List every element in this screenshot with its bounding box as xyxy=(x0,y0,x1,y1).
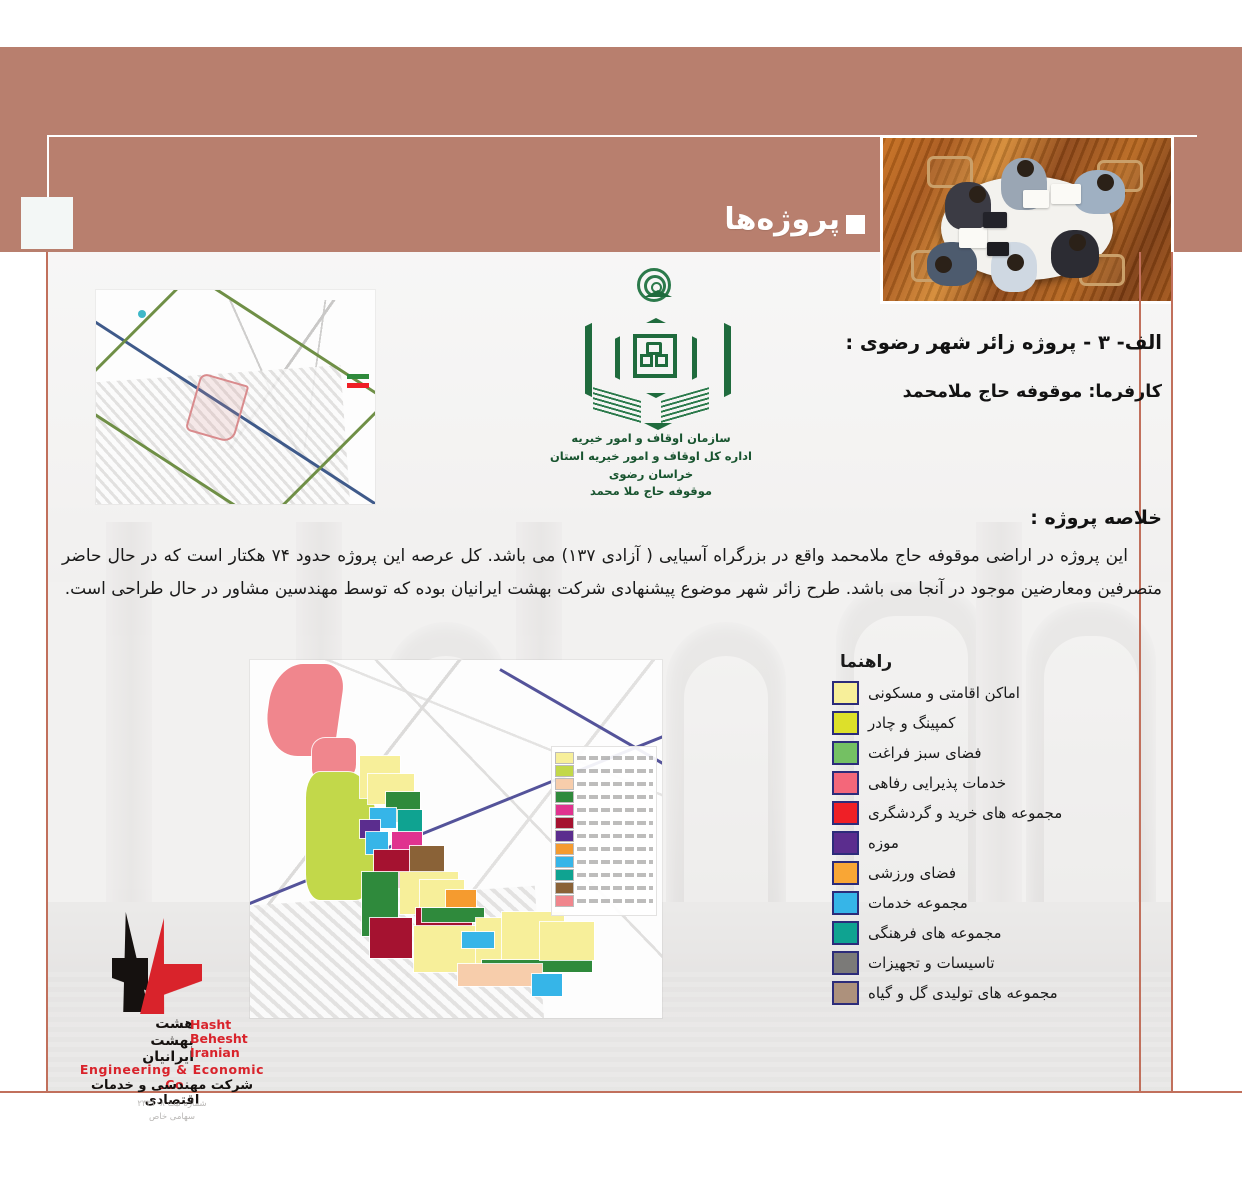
photo-document xyxy=(1051,184,1081,204)
legend-label: خدمات پذیرایی رفاهی xyxy=(868,774,1006,792)
masterplan-legend-label xyxy=(577,873,653,877)
legend-label: مجموعه خدمات xyxy=(868,894,968,912)
legend-swatch xyxy=(832,741,859,765)
photo-person-head xyxy=(1097,174,1114,191)
project-title: الف- ۳ - پروژه زائر شهر رضوی : xyxy=(802,332,1162,353)
masterplan-legend-label xyxy=(577,886,653,890)
legend-row: کمپینگ و چادر xyxy=(832,708,1162,738)
masterplan-legend-label xyxy=(577,860,653,864)
header-white-square xyxy=(21,197,73,249)
legend-row: خدمات پذیرایی رفاهی xyxy=(832,768,1162,798)
legend-label: تاسیسات و تجهیزات xyxy=(868,954,995,972)
legend-row: فضای ورزشی xyxy=(832,858,1162,888)
legend-label: مجموعه های خرید و گردشگری xyxy=(868,804,1062,822)
company-logo-block: هشت بهشت ایرانیان Hasht Behesht Iranian … xyxy=(58,912,278,1082)
legend-row: مجموعه های تولیدی گل و گیاه xyxy=(832,978,1162,1008)
masterplan-legend-row xyxy=(555,868,653,881)
masterplan-legend-row xyxy=(555,790,653,803)
emblem-line-3: موقوفه حاج ملا محمد xyxy=(531,483,771,501)
masterplan-zone xyxy=(398,810,422,834)
masterplan-legend-row xyxy=(555,816,653,829)
masterplan-zone xyxy=(458,964,542,986)
masterplan-zone xyxy=(532,974,562,996)
masterplan-legend-swatch xyxy=(555,752,574,764)
company-registration: شماره ثبت ۲۳۳۱۰۸ سهامی خاص xyxy=(66,1098,278,1124)
legend-swatch xyxy=(832,891,859,915)
legend-swatch xyxy=(832,831,859,855)
legend-label: کمپینگ و چادر xyxy=(868,714,955,732)
legend-swatch xyxy=(832,711,859,735)
masterplan-legend-swatch xyxy=(555,869,574,881)
legend-swatch xyxy=(832,921,859,945)
square-bullet-icon xyxy=(846,215,865,234)
summary-body: این پروژه در اراضی موقوفه حاج ملامحمد وا… xyxy=(62,540,1162,606)
masterplan-legend-row xyxy=(555,855,653,868)
header-band: پروژه‌ها xyxy=(0,47,1242,252)
legend-label: فضای سبز فراغت xyxy=(868,744,982,762)
sitemap-key-swatch xyxy=(347,374,369,379)
legend-label: اماکن اقامتی و مسکونی xyxy=(868,684,1020,702)
masterplan-zone xyxy=(540,922,594,960)
masterplan-legend-swatch xyxy=(555,882,574,894)
legend-swatch xyxy=(832,681,859,705)
masterplan-legend-label xyxy=(577,795,653,799)
awqaf-emblem-icon xyxy=(571,274,731,426)
masterplan-legend-label xyxy=(577,847,653,851)
legend-row: تاسیسات و تجهیزات xyxy=(832,948,1162,978)
legend-swatch xyxy=(832,771,859,795)
photo-person-head xyxy=(969,186,986,203)
masterplan-legend-swatch xyxy=(555,817,574,829)
masterplan-legend-row xyxy=(555,777,653,790)
emblem-caption: سازمان اوقاف و امور خیریه اداره کل اوقاف… xyxy=(531,430,771,501)
master-plan-map xyxy=(250,660,662,1018)
photo-document xyxy=(1023,190,1049,208)
masterplan-zone xyxy=(422,908,484,922)
photo-person-head xyxy=(1069,234,1086,251)
company-registration-line-2: سهامی خاص xyxy=(66,1111,278,1124)
masterplan-legend-swatch xyxy=(555,856,574,868)
masterplan-legend-swatch xyxy=(555,778,574,790)
masterplan-legend-label xyxy=(577,769,653,773)
page-root: پروژه‌ها xyxy=(0,0,1242,1180)
page-title: پروژه‌ها xyxy=(724,202,840,237)
masterplan-legend-swatch xyxy=(555,830,574,842)
summary-heading: خلاصه پروژه : xyxy=(1030,507,1162,529)
legend-title: راهنما xyxy=(832,652,1162,672)
masterplan-legend-label xyxy=(577,821,653,825)
emblem-line-2: اداره کل اوقاف و امور خیریه استان خراسان… xyxy=(531,448,771,484)
masterplan-legend-swatch xyxy=(555,804,574,816)
company-name-en-3: Iranian xyxy=(190,1046,276,1060)
legend-swatch xyxy=(832,981,859,1005)
awqaf-emblem-block: سازمان اوقاف و امور خیریه اداره کل اوقاف… xyxy=(531,274,771,494)
masterplan-legend-label xyxy=(577,808,653,812)
logo-red-tail xyxy=(160,964,202,1018)
legend-label: مجموعه های تولیدی گل و گیاه xyxy=(868,984,1058,1002)
company-name-fa-2: بهشت xyxy=(74,1033,194,1050)
masterplan-legend-label xyxy=(577,899,653,903)
company-registration-line-1: شماره ثبت ۲۳۳۱۰۸ xyxy=(66,1098,278,1111)
masterplan-legend-row xyxy=(555,764,653,777)
legend-label: فضای ورزشی xyxy=(868,864,956,882)
masterplan-inset-legend xyxy=(551,746,657,916)
legend-label: مجموعه های فرهنگی xyxy=(868,924,1002,942)
legend-panel: راهنما اماکن اقامتی و مسکونیکمپینگ و چاد… xyxy=(832,652,1162,1008)
cube-icon xyxy=(633,334,677,378)
masterplan-legend-label xyxy=(577,782,653,786)
photo-document xyxy=(959,228,987,248)
site-location-map xyxy=(96,290,375,504)
masterplan-legend-row xyxy=(555,881,653,894)
sitemap-key xyxy=(347,374,369,392)
header-rule-vertical xyxy=(47,135,49,203)
company-name-fa-1: هشت xyxy=(74,1016,194,1033)
legend-label: موزه xyxy=(868,834,899,852)
masterplan-legend-label xyxy=(577,834,653,838)
company-name-en-1: Hasht xyxy=(190,1018,276,1032)
legend-row: فضای سبز فراغت xyxy=(832,738,1162,768)
legend-row: مجموعه خدمات xyxy=(832,888,1162,918)
masterplan-legend-row xyxy=(555,842,653,855)
photo-person-head xyxy=(1017,160,1034,177)
masterplan-legend-label xyxy=(577,756,653,760)
content-area: سازمان اوقاف و امور خیریه اداره کل اوقاف… xyxy=(46,252,1172,1092)
company-name-en-2: Behesht xyxy=(190,1032,276,1046)
masterplan-legend-swatch xyxy=(555,791,574,803)
legend-swatch xyxy=(832,801,859,825)
legend-swatch xyxy=(832,861,859,885)
photo-device xyxy=(983,212,1007,228)
masterplan-legend-row xyxy=(555,894,653,907)
company-logo-mark-icon xyxy=(106,912,206,1016)
legend-swatch xyxy=(832,951,859,975)
legend-rows: اماکن اقامتی و مسکونیکمپینگ و چادرفضای س… xyxy=(832,678,1162,1008)
masterplan-legend-row xyxy=(555,829,653,842)
sitemap-marker-icon xyxy=(138,310,146,318)
masterplan-zone xyxy=(370,918,412,958)
legend-row: مجموعه های خرید و گردشگری xyxy=(832,798,1162,828)
masterplan-legend-swatch xyxy=(555,895,574,907)
legend-row: اماکن اقامتی و مسکونی xyxy=(832,678,1162,708)
company-name-en: Hasht Behesht Iranian xyxy=(190,1018,276,1060)
sitemap-key-swatch xyxy=(347,383,369,388)
masterplan-legend-row xyxy=(555,803,653,816)
project-client: کارفرما: موقوفه حاج ملامحمد xyxy=(802,382,1162,402)
company-name-fa: هشت بهشت ایرانیان xyxy=(74,1016,194,1066)
legend-row: موزه xyxy=(832,828,1162,858)
masterplan-legend-swatch xyxy=(555,765,574,777)
legend-row: مجموعه های فرهنگی xyxy=(832,918,1162,948)
masterplan-legend-row xyxy=(555,751,653,764)
masterplan-zone xyxy=(462,932,494,948)
emblem-line-1: سازمان اوقاف و امور خیریه xyxy=(531,430,771,448)
masterplan-legend-swatch xyxy=(555,843,574,855)
